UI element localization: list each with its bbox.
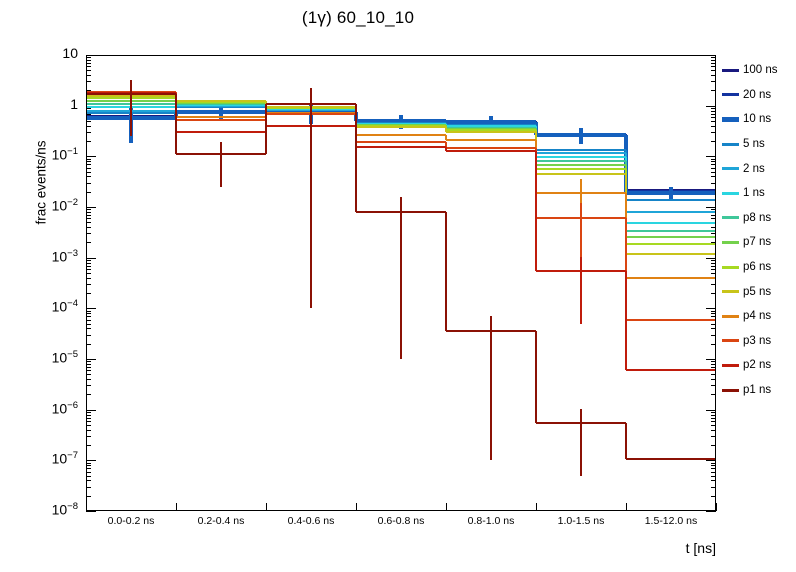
legend-label: p7 ns	[743, 236, 771, 248]
x-tick	[716, 503, 717, 511]
legend-swatch-icon	[722, 290, 739, 293]
y-tick-label: 10	[0, 45, 78, 61]
legend-entry-100-ns[interactable]: 100 ns	[722, 58, 796, 83]
legend-swatch-icon	[722, 93, 739, 96]
x-bin-label: 0.8-1.0 ns	[446, 515, 536, 527]
legend-label: 5 ns	[743, 138, 765, 150]
legend-label: 20 ns	[743, 89, 771, 101]
x-bin-label: 1.0-1.5 ns	[536, 515, 626, 527]
legend-label: 10 ns	[743, 113, 771, 125]
y-tick-label: 10−1	[0, 146, 78, 163]
legend-entry-2-ns[interactable]: 2 ns	[722, 156, 796, 181]
legend-swatch-icon	[722, 241, 739, 244]
legend-entry-p3-ns[interactable]: p3 ns	[722, 329, 796, 354]
legend-entry-20-ns[interactable]: 20 ns	[722, 83, 796, 108]
legend-label: p2 ns	[743, 359, 771, 371]
page-title: (1γ) 60_10_10	[0, 8, 716, 28]
legend-entry-10-ns[interactable]: 10 ns	[722, 107, 796, 132]
x-bin-label: 0.6-0.8 ns	[356, 515, 446, 527]
y-tick-label: 10−7	[0, 450, 78, 467]
legend-swatch-icon	[722, 143, 739, 146]
legend-entry-p4-ns[interactable]: p4 ns	[722, 304, 796, 329]
legend-label: p6 ns	[743, 261, 771, 273]
x-axis-label: t [ns]	[616, 540, 716, 556]
legend-swatch-icon	[722, 69, 739, 72]
legend-swatch-icon	[722, 117, 739, 122]
legend-entry-5-ns[interactable]: 5 ns	[722, 132, 796, 157]
legend-entry-p6-ns[interactable]: p6 ns	[722, 255, 796, 280]
y-tick-major	[86, 511, 96, 512]
y-axis-label: frac events/ns	[34, 98, 49, 268]
legend-label: 1 ns	[743, 187, 765, 199]
y-tick-label: 10−5	[0, 349, 78, 366]
x-bin-label: 1.5-12.0 ns	[626, 515, 716, 527]
legend-label: p8 ns	[743, 212, 771, 224]
legend-label: p5 ns	[743, 286, 771, 298]
y-tick-label: 10−3	[0, 248, 78, 265]
legend-label: 2 ns	[743, 163, 765, 175]
legend-swatch-icon	[722, 167, 739, 170]
y-tick-label: 10−2	[0, 197, 78, 214]
legend-label: 100 ns	[743, 64, 778, 76]
legend-swatch-icon	[722, 364, 739, 367]
legend-entry-p8-ns[interactable]: p8 ns	[722, 206, 796, 231]
y-tick-label: 10−8	[0, 501, 78, 518]
legend-swatch-icon	[722, 266, 739, 269]
y-tick-label: 1	[0, 96, 78, 112]
x-bin-label: 0.4-0.6 ns	[266, 515, 356, 527]
legend-swatch-icon	[722, 339, 739, 342]
legend-label: p3 ns	[743, 335, 771, 347]
y-tick-major	[706, 511, 716, 512]
legend-label: p4 ns	[743, 310, 771, 322]
y-tick-label: 10−4	[0, 298, 78, 315]
legend-entry-p7-ns[interactable]: p7 ns	[722, 230, 796, 255]
legend-entry-p5-ns[interactable]: p5 ns	[722, 279, 796, 304]
x-bin-label: 0.0-0.2 ns	[86, 515, 176, 527]
plot-canvas: (1γ) 60_10_10 frac events/ns t [ns] 1011…	[0, 0, 796, 572]
plot-frame	[86, 55, 716, 511]
legend-label: p1 ns	[743, 384, 771, 396]
legend-swatch-icon	[722, 216, 739, 219]
legend-swatch-icon	[722, 192, 739, 195]
legend: 100 ns20 ns10 ns5 ns2 ns1 nsp8 nsp7 nsp6…	[722, 58, 796, 402]
legend-entry-p2-ns[interactable]: p2 ns	[722, 353, 796, 378]
x-bin-label: 0.2-0.4 ns	[176, 515, 266, 527]
y-tick-label: 10−6	[0, 400, 78, 417]
legend-swatch-icon	[722, 389, 739, 392]
legend-entry-p1-ns[interactable]: p1 ns	[722, 378, 796, 403]
legend-entry-1-ns[interactable]: 1 ns	[722, 181, 796, 206]
legend-swatch-icon	[722, 315, 739, 318]
